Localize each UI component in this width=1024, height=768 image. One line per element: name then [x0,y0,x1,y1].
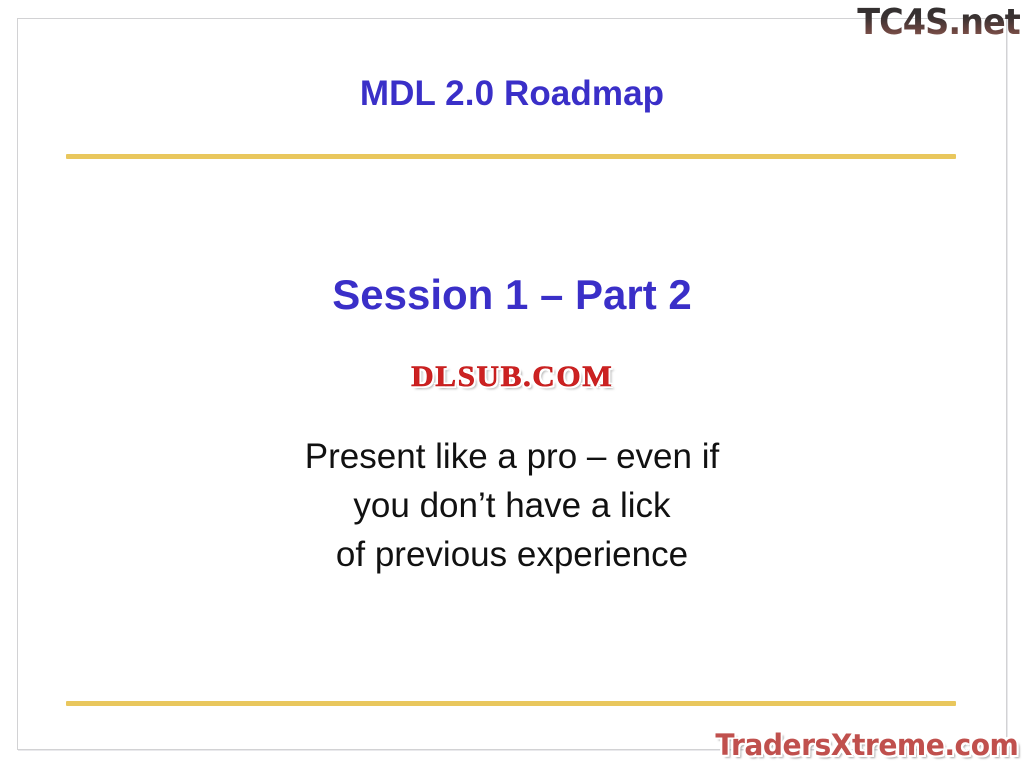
body-copy-line-2: you don’t have a lick [0,481,1024,530]
session-heading: Session 1 – Part 2 [0,271,1024,319]
top-divider-rule [66,154,956,159]
body-copy-line-3: of previous experience [0,530,1024,579]
slide-frame-border [17,18,1007,750]
page-title: MDL 2.0 Roadmap [0,74,1024,114]
slide-canvas: TC4S.net TC4S.net MDL 2.0 Roadmap Sessio… [0,0,1024,768]
body-copy-line-1: Present like a pro – even if [0,432,1024,481]
bottom-divider-rule [66,701,956,706]
body-copy: Present like a pro – even if you don’t h… [0,432,1024,579]
